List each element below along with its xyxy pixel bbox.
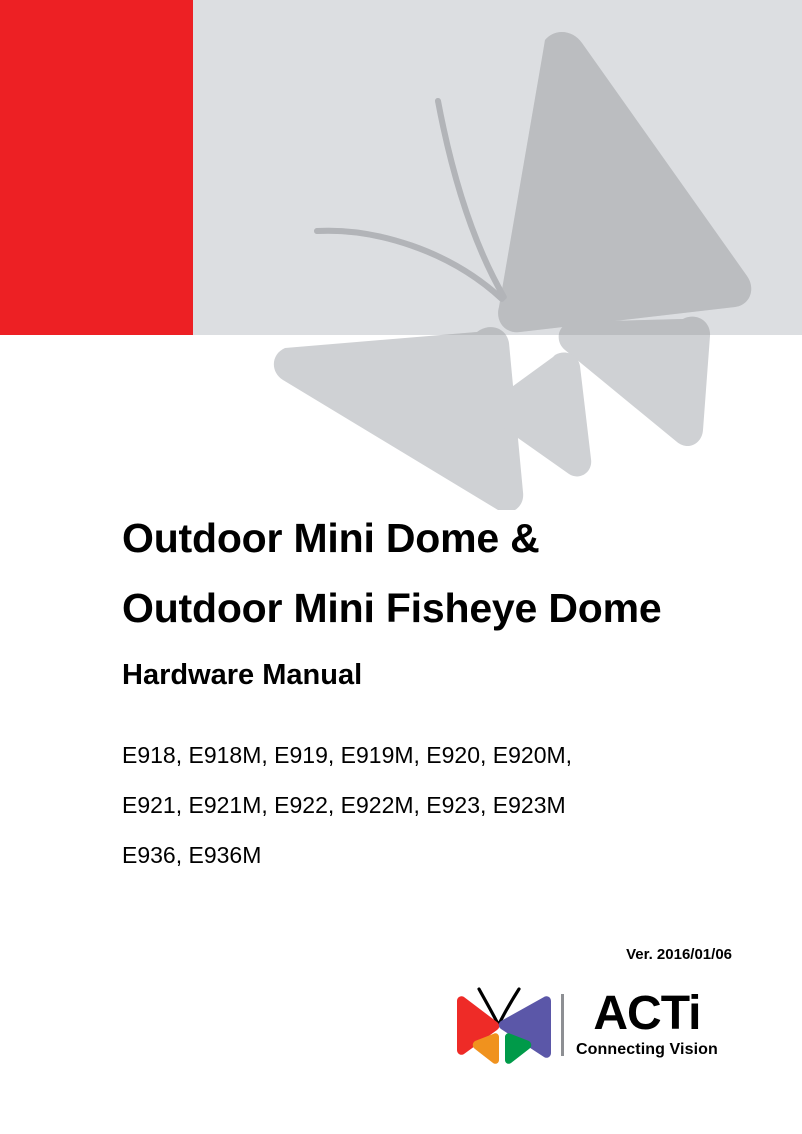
logo-wordmark: ACTi Connecting Vision — [576, 991, 718, 1060]
model-line-1: E918, E918M, E919, E919M, E920, E920M, — [122, 730, 742, 780]
page-title: Outdoor Mini Dome & Outdoor Mini Fisheye… — [122, 503, 762, 699]
brand-tagline: Connecting Vision — [576, 1040, 718, 1060]
model-line-3: E936, E936M — [122, 830, 742, 880]
acti-butterfly-icon — [448, 986, 553, 1064]
logo-divider — [561, 994, 564, 1056]
title-line-1: Outdoor Mini Dome & — [122, 503, 762, 573]
page-subtitle: Hardware Manual — [122, 651, 762, 699]
version-label: Ver. 2016/01/06 — [626, 946, 732, 963]
model-number-list: E918, E918M, E919, E919M, E920, E920M, E… — [122, 730, 742, 880]
cover-page: Outdoor Mini Dome & Outdoor Mini Fisheye… — [0, 0, 802, 1134]
model-line-2: E921, E921M, E922, E922M, E923, E923M — [122, 780, 742, 830]
brand-name: ACTi — [576, 991, 718, 1037]
title-line-2: Outdoor Mini Fisheye Dome — [122, 573, 762, 643]
header-red-band — [0, 0, 193, 335]
acti-logo: ACTi Connecting Vision — [448, 984, 738, 1066]
